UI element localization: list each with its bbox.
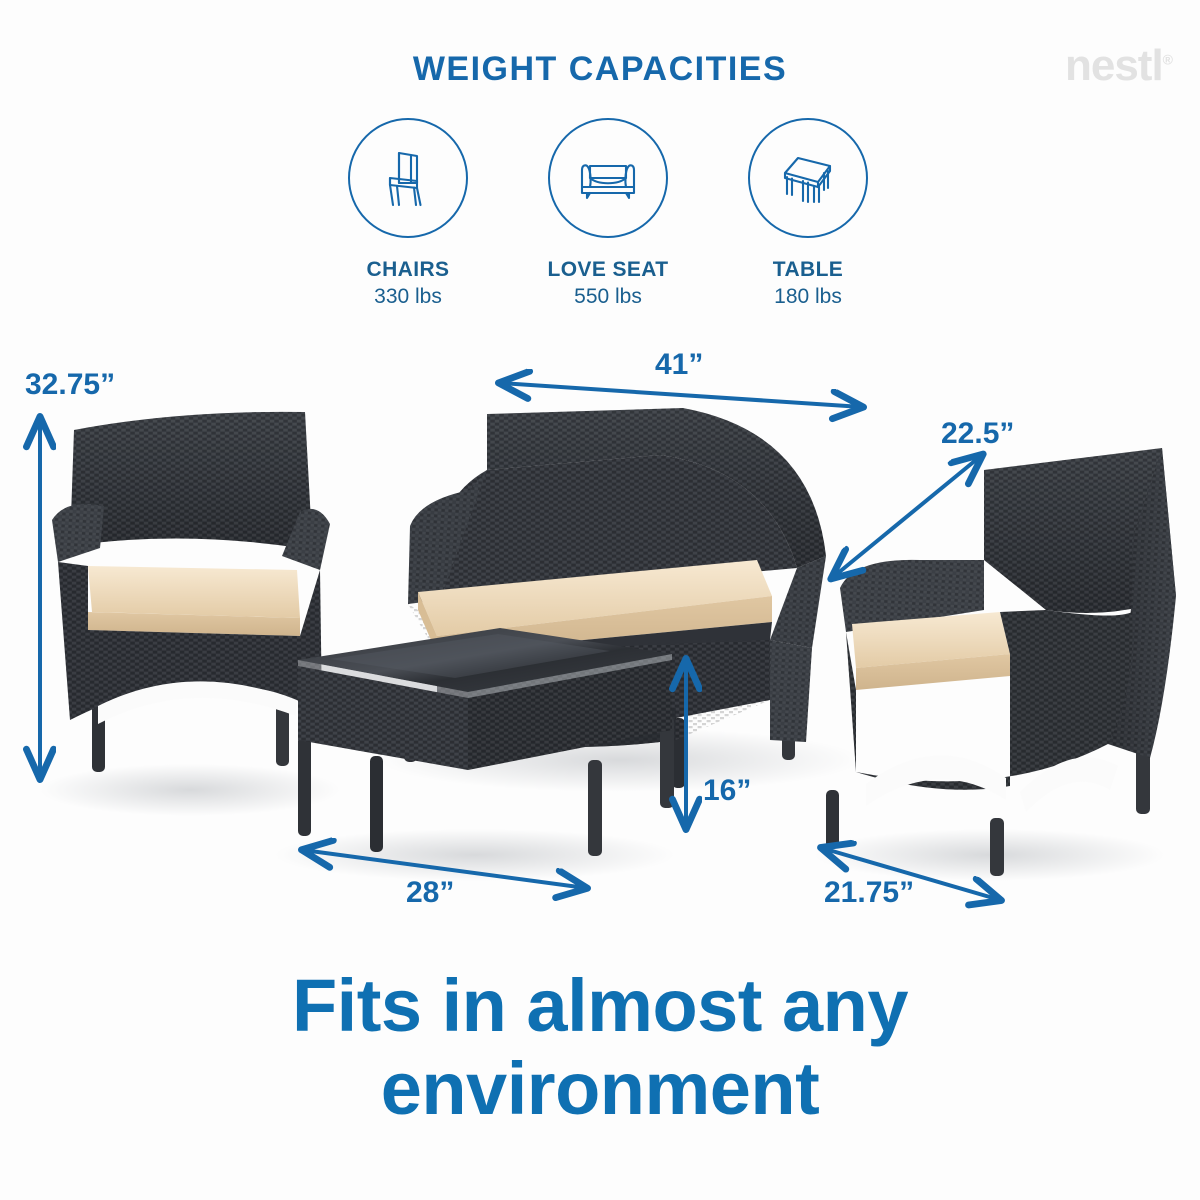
armchair-left: [52, 412, 330, 772]
chair-left-cushion: [88, 566, 300, 618]
infographic-canvas: nestl® WEIGHT CAPACITIES CHAIRS 330: [0, 0, 1200, 1200]
tagline-line-1: Fits in almost any: [0, 965, 1200, 1048]
tagline-line-2: environment: [0, 1048, 1200, 1131]
dimension-label-table-height: 16”: [703, 774, 751, 808]
dimension-label-table-width: 28”: [406, 876, 454, 910]
dimension-label-love-seat-width: 41”: [655, 348, 703, 382]
armchair-right: [826, 448, 1176, 876]
dimension-label-chair-height: 32.75”: [25, 368, 115, 402]
dimension-label-chair-depth: 22.5”: [941, 417, 1014, 451]
dimension-label-chair-width: 21.75”: [824, 876, 914, 910]
shadow-coffee-table: [275, 829, 675, 881]
shadow-chair-left: [40, 764, 340, 816]
tagline: Fits in almost any environment: [0, 965, 1200, 1131]
